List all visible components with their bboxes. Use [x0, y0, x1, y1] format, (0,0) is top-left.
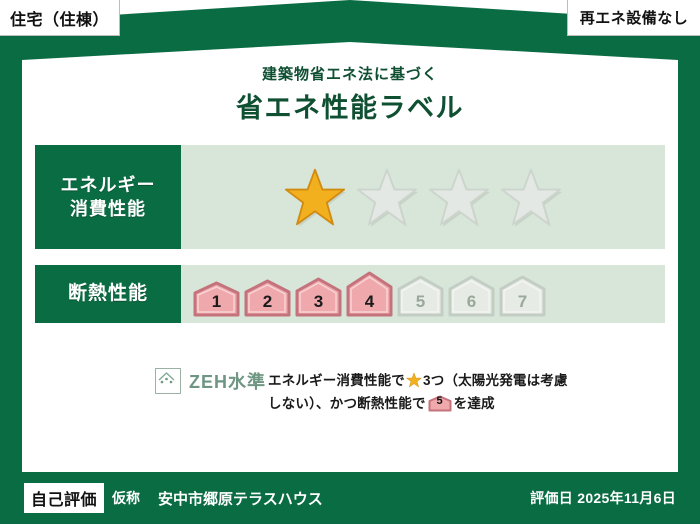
label-title: 省エネ性能ラベル — [0, 86, 700, 125]
insulation-level-5-badge: 5 — [428, 395, 452, 412]
provisional-name-label: 仮称 — [112, 488, 140, 508]
inline-badge-number: 5 — [428, 392, 452, 411]
insulation-level-number: 4 — [346, 292, 393, 312]
building-name: 安中市郷原テラスハウス — [158, 488, 323, 509]
label-subtitle: 建築物省エネ法に基づく — [0, 63, 700, 84]
footer-bar: 自己評価 仮称 安中市郷原テラスハウス 評価日 2025年11月6日 — [0, 472, 700, 524]
energy-performance-label: エネルギー 消費性能 — [35, 145, 181, 249]
star-empty — [500, 167, 562, 227]
energy-label-line1: エネルギー — [61, 173, 156, 197]
star-rating — [284, 167, 562, 227]
zeh-standard-block: ZEH水準 — [155, 368, 266, 394]
insulation-level-badges: 1234567 — [193, 271, 546, 317]
achievement-description: エネルギー消費性能で3つ（太陽光発電は考慮しない）、かつ断熱性能で5を達成 — [268, 370, 568, 416]
building-type-tag: 住宅（住棟） — [0, 0, 120, 36]
evaluation-date: 評価日 2025年11月6日 — [530, 488, 676, 508]
energy-label-line2: 消費性能 — [70, 197, 146, 221]
insulation-level-3: 3 — [295, 277, 342, 317]
insulation-level-6: 6 — [448, 275, 495, 317]
renewable-energy-tag: 再エネ設備なし — [567, 0, 700, 36]
insulation-level-number: 7 — [499, 292, 546, 312]
zeh-standard-label: ZEH水準 — [189, 368, 266, 394]
star-icon — [406, 372, 422, 388]
desc-part4: を達成 — [454, 396, 495, 411]
desc-part2: 3つ（太陽光発電 — [423, 373, 527, 388]
insulation-level-7: 7 — [499, 275, 546, 317]
insulation-performance-row: 断熱性能 1234567 — [35, 265, 665, 323]
insulation-level-number: 3 — [295, 292, 342, 312]
insulation-performance-label: 断熱性能 — [35, 265, 181, 323]
insulation-level-number: 1 — [193, 292, 240, 312]
insulation-label-text: 断熱性能 — [68, 281, 148, 307]
star-empty — [356, 167, 418, 227]
insulation-level-2: 2 — [244, 279, 291, 317]
insulation-performance-panel: 1234567 — [181, 265, 665, 323]
energy-performance-row: エネルギー 消費性能 — [35, 145, 665, 249]
insulation-level-number: 2 — [244, 292, 291, 312]
energy-performance-panel — [181, 145, 665, 249]
energy-label-card: 住宅（住棟） 再エネ設備なし 建築物省エネ法に基づく 省エネ性能ラベル エネルギ… — [0, 0, 700, 524]
insulation-level-5: 5 — [397, 275, 444, 317]
self-evaluation-badge: 自己評価 — [24, 483, 104, 513]
star-empty — [428, 167, 490, 227]
insulation-level-number: 5 — [397, 292, 444, 312]
star-filled — [284, 167, 346, 227]
desc-part1: エネルギー消費性能で — [268, 373, 405, 388]
insulation-level-number: 6 — [448, 292, 495, 312]
zeh-house-icon — [155, 368, 181, 394]
insulation-level-4: 4 — [346, 271, 393, 317]
insulation-level-1: 1 — [193, 281, 240, 317]
